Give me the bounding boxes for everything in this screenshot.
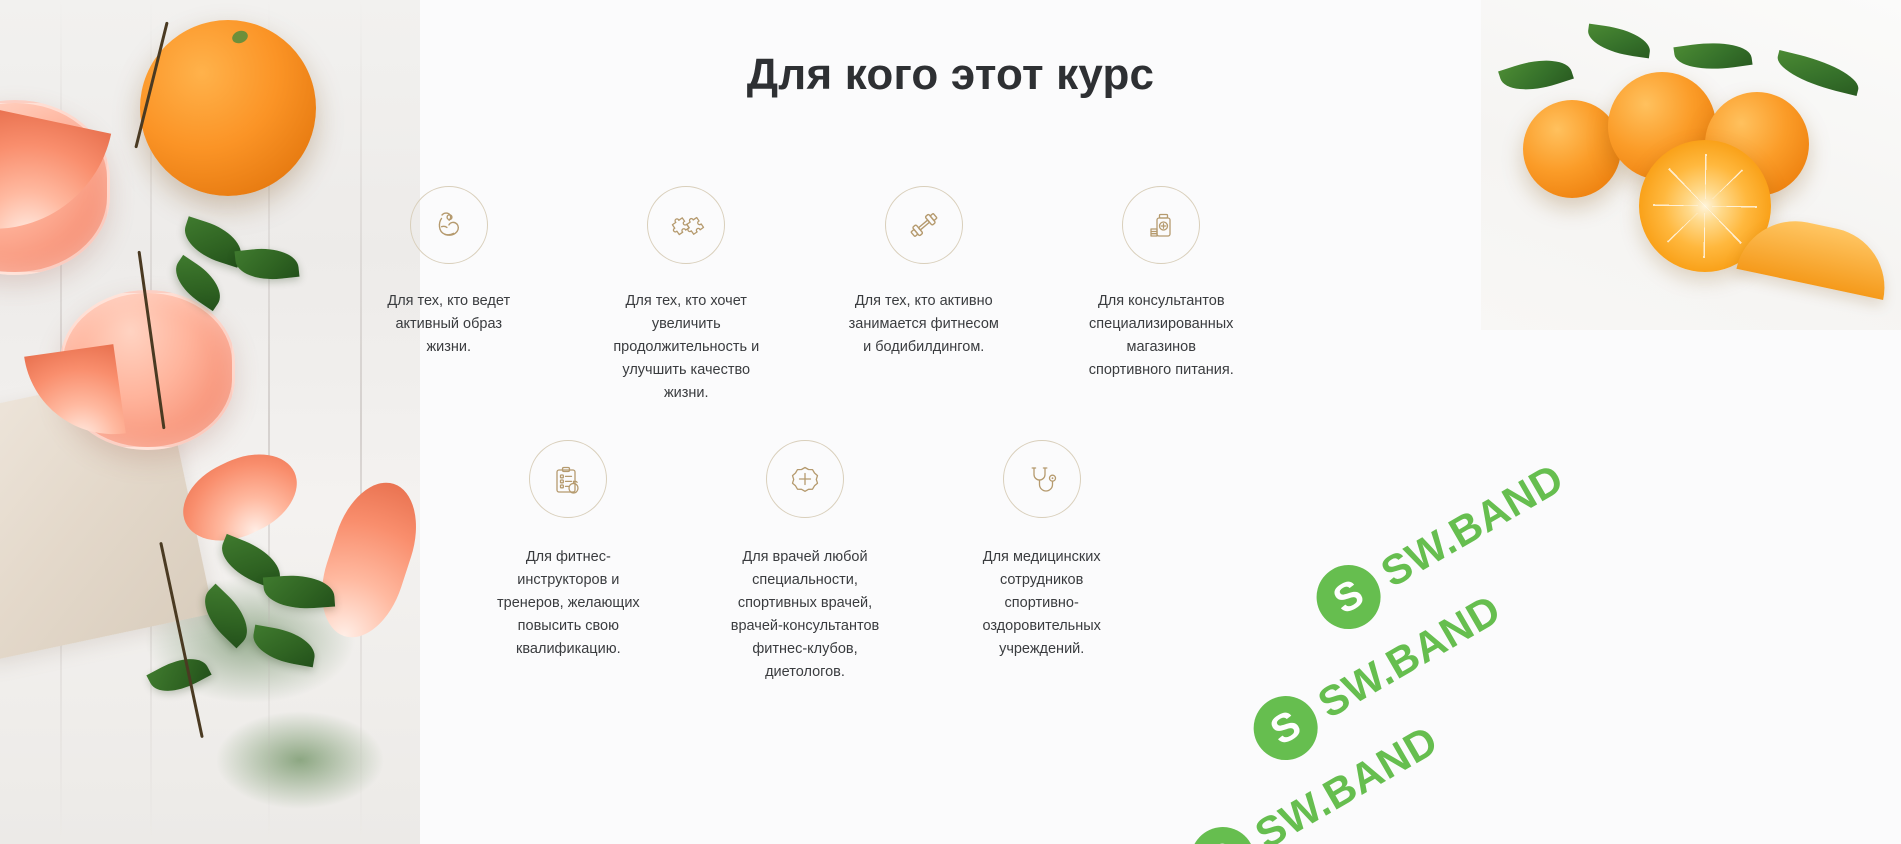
audience-card-trainers[interactable]: Для фитнес- инструкторов и тренеров, жел… [490, 440, 647, 684]
orange-fruit [140, 20, 316, 196]
leaf-decor [234, 245, 299, 283]
audience-card-text: Для тех, кто активно занимается фитнесом… [849, 290, 999, 359]
audience-card-text: Для тех, кто ведет активный образ жизни. [387, 290, 510, 359]
watermark-label: SW.BAND [1310, 585, 1509, 727]
page-title: Для кого этот курс [0, 50, 1901, 100]
puzzle-pieces-icon [647, 186, 725, 264]
watermark-badge: S [1242, 684, 1329, 771]
audience-card-active-lifestyle[interactable]: Для тех, кто ведет активный образ жизни. [370, 186, 528, 405]
audience-card-text: Для фитнес- инструкторов и тренеров, жел… [497, 546, 640, 661]
audience-card-longevity[interactable]: Для тех, кто хочет увеличить продолжител… [608, 186, 766, 405]
watermark-label: SW.BAND [1373, 454, 1572, 596]
medical-cross-icon [766, 440, 844, 518]
audience-card-doctors[interactable]: Для врачей любой специальности, спортивн… [727, 440, 884, 684]
tangerine-fruit [1523, 100, 1621, 198]
audience-card-text: Для медицинских сотрудников спортивно- о… [982, 546, 1100, 661]
grapefruit-slice [307, 472, 420, 648]
watermark-label: SW.BAND [1247, 716, 1446, 844]
audience-card-medical-staff[interactable]: Для медицинских сотрудников спортивно- о… [963, 440, 1120, 684]
audience-row-1: Для тех, кто ведет активный образ жизни.… [330, 186, 1280, 405]
stethoscope-icon [1003, 440, 1081, 518]
watermark-badge: S [1179, 815, 1266, 844]
watermark-badge: S [1305, 553, 1392, 640]
audience-card-fitness[interactable]: Для тех, кто активно занимается фитнесом… [845, 186, 1003, 405]
left-photo-background [0, 0, 420, 844]
clipboard-apple-icon [529, 440, 607, 518]
audience-card-text: Для консультантов специализированных маг… [1089, 290, 1234, 382]
watermark-line: S SW.BAND [1305, 355, 1735, 640]
leaf-decor [146, 648, 211, 702]
audience-row-2: Для фитнес- инструкторов и тренеров, жел… [450, 440, 1160, 684]
leaf-decor [250, 625, 319, 668]
supplement-bottle-icon [1122, 186, 1200, 264]
watermark-swband: S SW.BAND S SW.BAND S SW.BAND [1088, 340, 1901, 844]
audience-card-supplement-consultants[interactable]: Для консультантов специализированных маг… [1083, 186, 1241, 405]
flexed-bicep-icon [410, 186, 488, 264]
page-root: Для кого этот курс Для тех, кто ведет ак… [0, 0, 1901, 844]
watermark-line: S SW.BAND [1179, 497, 1817, 844]
audience-card-text: Для врачей любой специальности, спортивн… [731, 546, 880, 684]
audience-card-text: Для тех, кто хочет увеличить продолжител… [613, 290, 759, 405]
watermark-line: S SW.BAND [1242, 426, 1776, 771]
dumbbell-icon [885, 186, 963, 264]
